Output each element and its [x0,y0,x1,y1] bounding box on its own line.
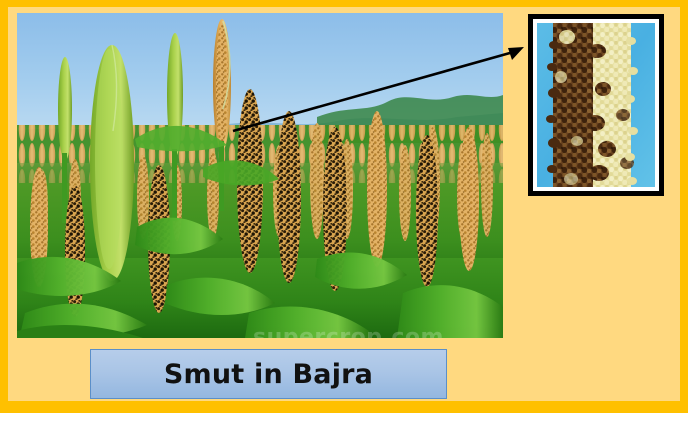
inset-mat [533,19,659,191]
inset-photo-canvas [537,23,655,187]
figure-root: supercrop.com [0,0,688,421]
caption-label: Smut in Bajra [164,361,373,388]
inset-closeup-panel [528,14,664,196]
inset-closeup-photo [537,23,655,187]
caption-plate: Smut in Bajra [90,349,447,399]
main-field-photo: supercrop.com [17,13,503,338]
main-photo-canvas [17,13,503,338]
